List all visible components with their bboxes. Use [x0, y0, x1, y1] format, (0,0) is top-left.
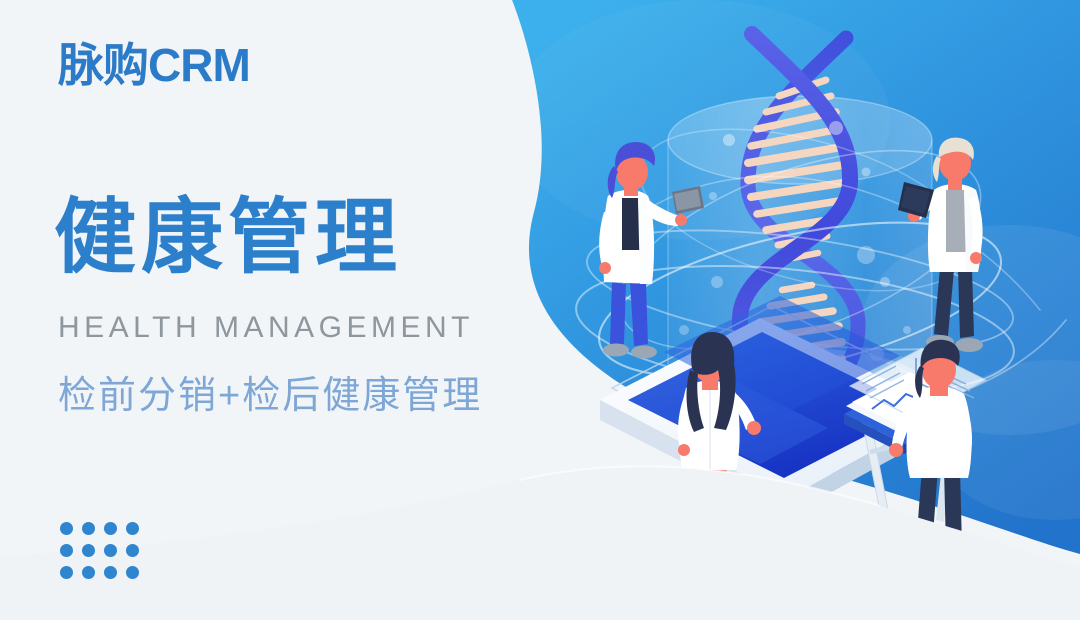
- health-management-banner: 脉购CRM 健康管理 HEALTH MANAGEMENT 检前分销+检后健康管理: [0, 0, 1080, 620]
- dot: [82, 566, 95, 579]
- dot: [104, 522, 117, 535]
- dot: [126, 544, 139, 557]
- dot: [60, 566, 73, 579]
- dot: [60, 544, 73, 557]
- page-title: 健康管理: [54, 197, 402, 279]
- dot: [104, 544, 117, 557]
- dot: [104, 566, 117, 579]
- text-column: 脉购CRM 健康管理 HEALTH MANAGEMENT 检前分销+检后健康管理: [0, 0, 540, 620]
- dot: [60, 522, 73, 535]
- dot: [82, 522, 95, 535]
- brand-logo[interactable]: 脉购CRM: [58, 42, 250, 88]
- dot: [126, 522, 139, 535]
- dot: [126, 566, 139, 579]
- dot-grid-decoration: [60, 522, 148, 588]
- page-title-english: HEALTH MANAGEMENT: [58, 313, 474, 343]
- dot: [82, 544, 95, 557]
- page-subtitle: 检前分销+检后健康管理: [58, 373, 482, 421]
